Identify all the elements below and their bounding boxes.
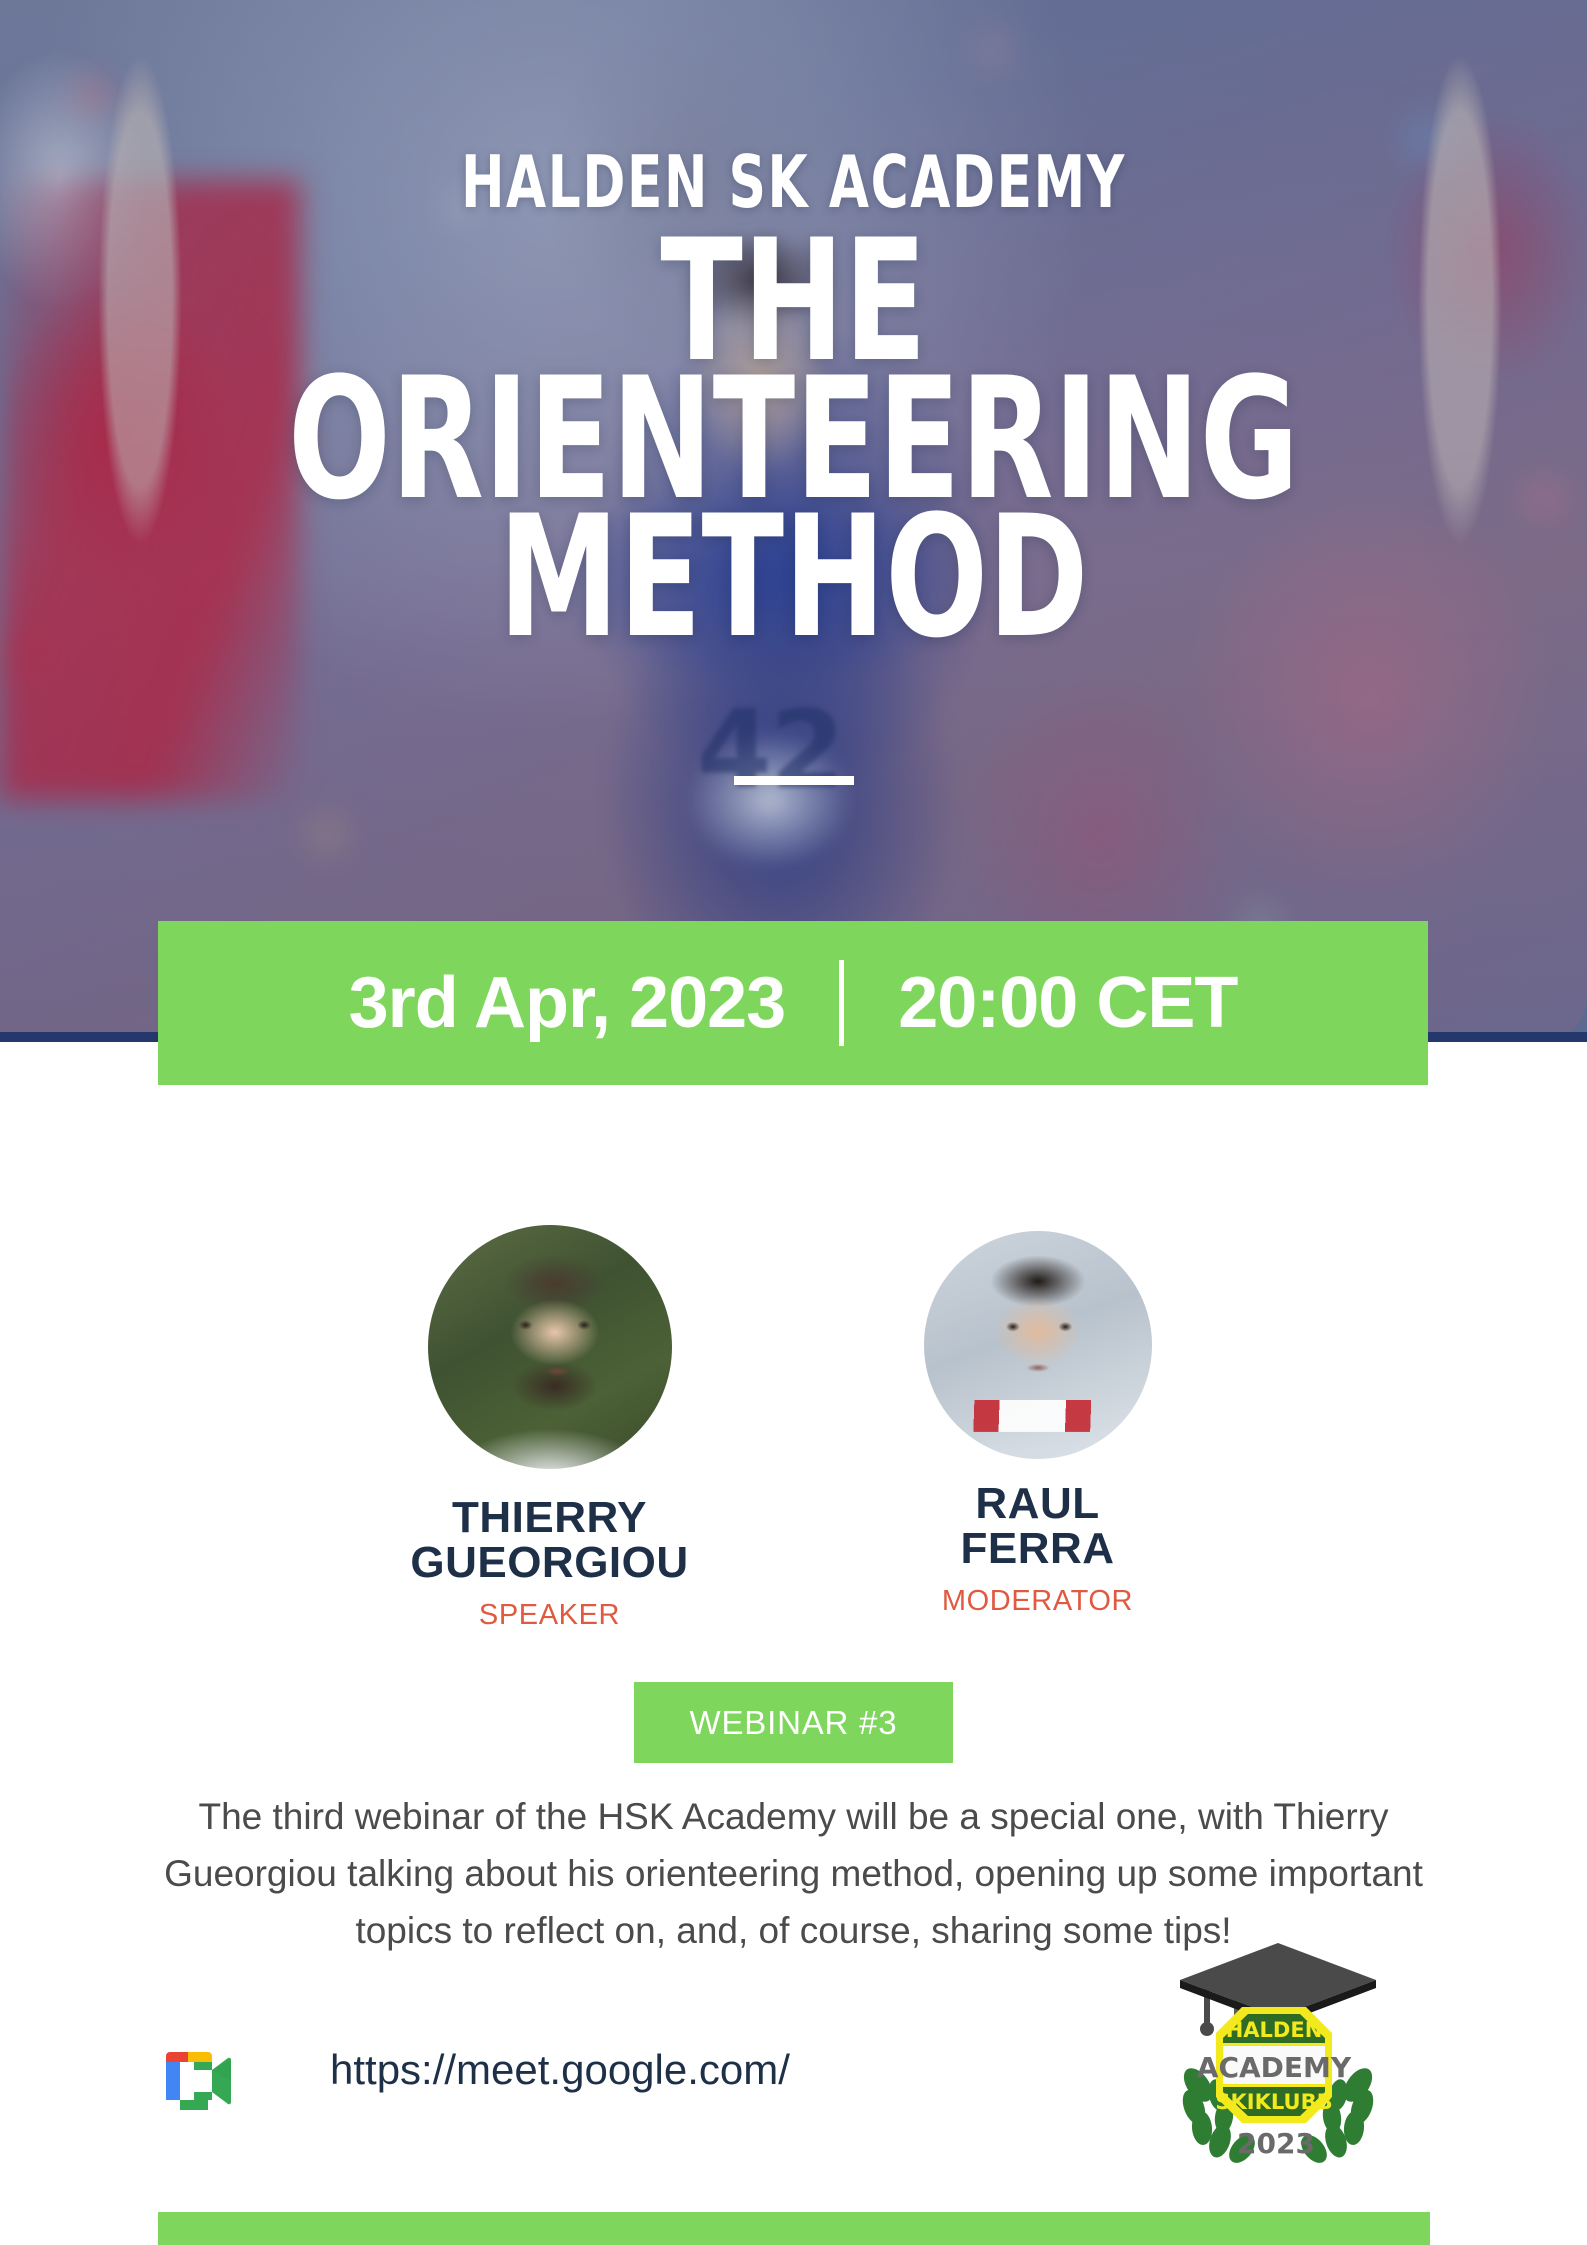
speaker-name-line2: GUEORGIOU [410,1538,688,1587]
webinar-badge-label: WEBINAR #3 [690,1704,898,1742]
speaker-name-line1: THIERRY [452,1493,647,1542]
title-divider-rule [734,776,854,785]
google-meet-icon [158,2048,234,2114]
datetime-separator [839,960,844,1046]
logo-year: 2023 [1237,2127,1315,2160]
avatar [924,1231,1152,1459]
event-datetime-banner: 3rd Apr, 2023 20:00 CET [158,921,1428,1085]
speaker-name: THIERRY GUEORGIOU [385,1495,715,1585]
footer-green-bar [158,2212,1430,2245]
hero-banner: 42 HALDEN SK ACADEMY THE ORIENTEERING ME… [0,0,1587,1042]
speaker-name-line2: FERRA [960,1524,1114,1573]
logo-middle-text: ACADEMY [1197,2051,1352,2084]
speaker-role: SPEAKER [385,1599,715,1632]
speaker-role: MODERATOR [873,1585,1203,1618]
logo-bottom-text: SKIKLUBB [1215,2090,1332,2114]
speaker-card-raul-ferra: RAUL FERRA MODERATOR [873,1225,1203,1618]
webinar-description: The third webinar of the HSK Academy wil… [140,1788,1447,1959]
webinar-number-badge: WEBINAR #3 [634,1682,953,1763]
halden-academy-logo: HALDEN ACADEMY SKIKLUBB 2023 [1168,1935,1388,2180]
event-date: 3rd Apr, 2023 [349,962,786,1044]
speaker-card-thierry-gueorgiou: THIERRY GUEORGIOU SPEAKER [385,1225,715,1632]
page-title: THE ORIENTEERING METHOD [159,232,1429,646]
speaker-name-line1: RAUL [975,1479,1099,1528]
avatar [428,1225,672,1469]
event-time: 20:00 CET [898,962,1237,1044]
meeting-link-row: https://meet.google.com/ [158,2040,958,2140]
speaker-name: RAUL FERRA [873,1481,1203,1571]
logo-top-text: HALDEN [1226,2018,1323,2042]
meeting-url[interactable]: https://meet.google.com/ [330,2046,790,2094]
speakers-section: THIERRY GUEORGIOU SPEAKER RAUL FERRA MOD… [0,1225,1587,1632]
